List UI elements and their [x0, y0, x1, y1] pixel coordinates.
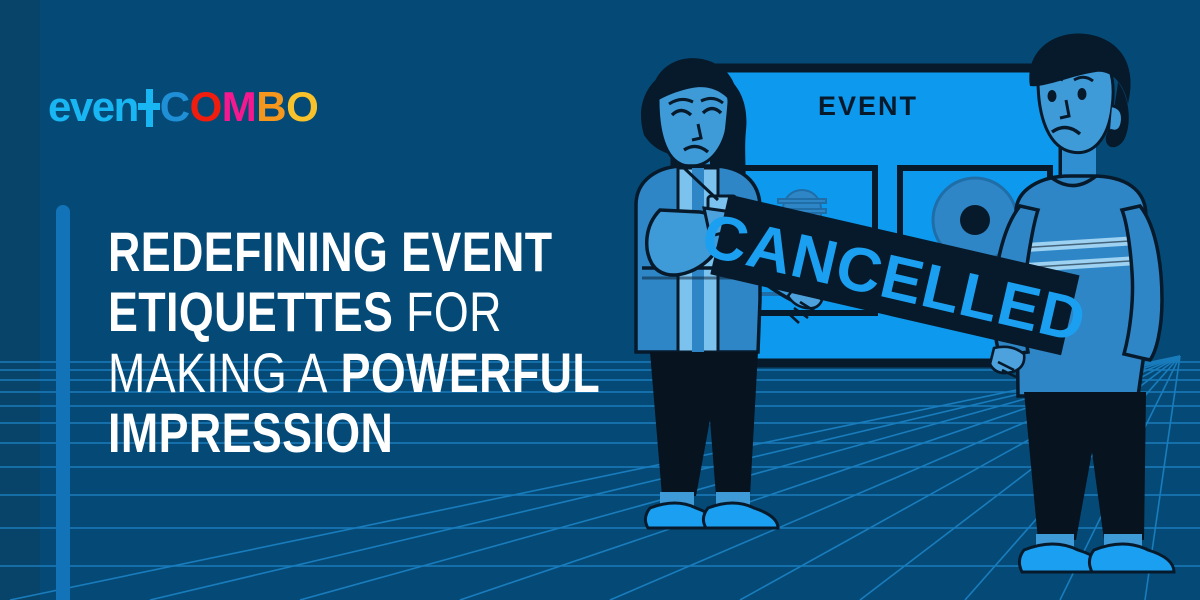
- logo-letter-b: B: [256, 83, 286, 130]
- headline-line-2: ETIQUETTES FOR: [108, 282, 636, 342]
- page-title: REDEFINING EVENT ETIQUETTES FOR MAKING A…: [108, 222, 636, 464]
- headline-line3-light: MAKING A: [108, 341, 328, 404]
- cancelled-event-illustration: EVENT: [600, 0, 1200, 600]
- logo-letter-m: M: [222, 83, 257, 130]
- headline-line2-bold: ETIQUETTES: [108, 280, 393, 343]
- logo-text-event: even: [48, 83, 138, 130]
- headline-line3-bold: POWERFUL: [341, 341, 601, 404]
- blog-banner: evenCOMBO REDEFINING EVENT ETIQUETTES FO…: [0, 0, 1200, 600]
- headline-line-4: IMPRESSION: [108, 403, 636, 463]
- shoe-right: [1089, 544, 1174, 572]
- eye-right: [1078, 88, 1087, 100]
- logo-cross-t-icon: [138, 89, 160, 127]
- headline-line1-bold: REDEFINING EVENT: [108, 220, 553, 283]
- headline-line-3: MAKING A POWERFUL: [108, 343, 636, 403]
- logo-letter-o1: O: [190, 83, 222, 130]
- logo-letter-c: C: [160, 83, 190, 130]
- left-gutter-strip: [0, 0, 40, 600]
- legs: [650, 352, 758, 496]
- headline-line2-light: FOR: [406, 280, 502, 343]
- logo-letter-o2: O: [286, 83, 318, 130]
- accent-vertical-bar: [56, 205, 70, 600]
- eye-left: [1048, 90, 1057, 102]
- eventcombo-logo[interactable]: evenCOMBO: [48, 86, 318, 128]
- shoe-right: [703, 503, 778, 528]
- headline-line-1: REDEFINING EVENT: [108, 222, 636, 282]
- board-heading-text: EVENT: [818, 91, 918, 121]
- legs: [1024, 392, 1146, 540]
- headline-line4-bold: IMPRESSION: [108, 401, 393, 464]
